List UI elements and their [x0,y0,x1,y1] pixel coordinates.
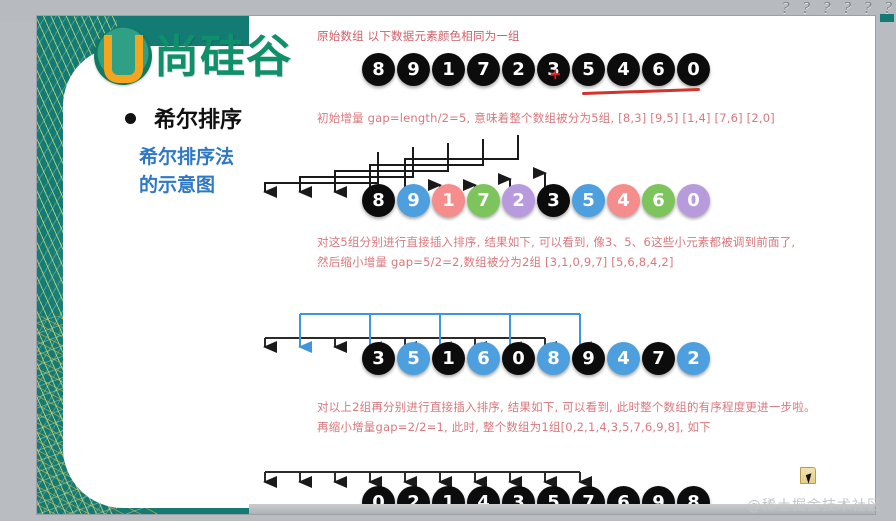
array-element: 6 [642,53,675,86]
array-element: 7 [467,184,500,217]
array-element: 1 [432,342,465,375]
note-original-array: 原始数组 以下数据元素颜色相同为一组 [317,26,520,46]
array-element: 5 [572,184,605,217]
array-element: 5 [572,53,605,86]
slide-title-row: 希尔排序 [125,102,242,134]
slide-subtitle: 希尔排序法 的示意图 [139,144,234,199]
row-gap2: 3516089472 [362,342,710,375]
array-element: 3 [537,184,570,217]
array-element: 1 [432,53,465,86]
array-element: 4 [607,342,640,375]
row-original: 8917235460 [362,53,710,86]
array-element: 0 [502,342,535,375]
screen-root: ? ? ? ? ? ? 尚硅谷 希尔排序 希尔排序法 的示意图 [0,0,896,521]
array-element: 5 [397,342,430,375]
array-element: 6 [467,342,500,375]
array-element: 8 [537,342,570,375]
row-gap5: 8917235460 [362,184,710,217]
note-gap1: 对以上2组再分别进行直接插入排序, 结果如下, 可以看到, 此时整个数组的有序程… [317,397,816,437]
array-element: 8 [362,53,395,86]
array-element: 7 [467,53,500,86]
page-title: 希尔排序 [154,102,242,134]
array-element: 1 [432,184,465,217]
array-element: 9 [572,342,605,375]
note-gap5: 初始增量 gap=length/2=5, 意味着整个数组被分为5组, [8,3]… [317,108,775,128]
array-element: 6 [642,184,675,217]
u-logo-icon [94,27,152,85]
pen-plus-marker: + [549,67,562,82]
array-element: 3 [362,342,395,375]
array-element: 0 [677,53,710,86]
array-element: 0 [677,184,710,217]
note-gap2: 对这5组分别进行直接插入排序, 结果如下, 可以看到, 像3、5、6这些小元素都… [317,232,795,272]
array-element: 9 [397,184,430,217]
array-element: 7 [642,342,675,375]
bullet-dot-icon [125,113,136,124]
array-element: 9 [397,53,430,86]
teal-accent-chip [880,14,894,22]
shell-sort-diagram: 原始数组 以下数据元素颜色相同为一组 8917235460 + 初始增量 gap… [249,16,875,514]
array-element: 4 [607,184,640,217]
presentation-slide: 尚硅谷 希尔排序 希尔排序法 的示意图 原始数组 以下数据元素颜色相同为一组 8… [37,16,875,514]
array-element: 2 [677,342,710,375]
array-element: 2 [502,184,535,217]
pen-underline-marker [582,88,700,95]
array-element: 2 [502,53,535,86]
array-element: 4 [607,53,640,86]
watermark-text: @稀土掘金技术社区 [747,495,882,515]
array-element: 8 [362,184,395,217]
folder-cursor-icon [800,467,818,489]
